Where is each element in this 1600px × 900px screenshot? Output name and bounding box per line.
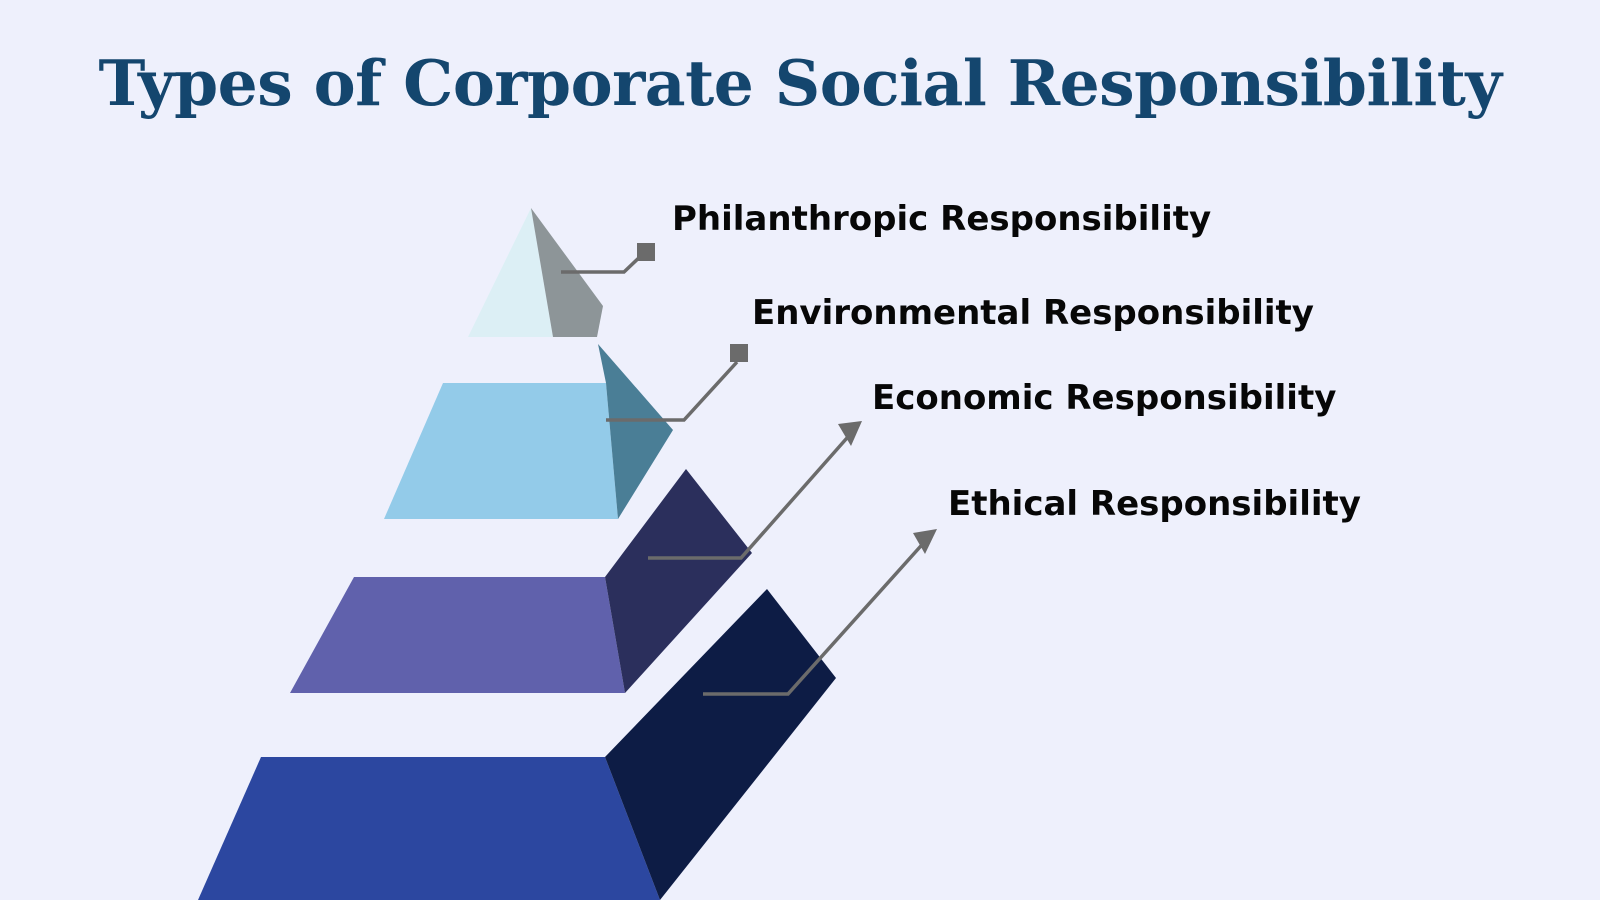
tier-label-philanthropic: Philanthropic Responsibility	[672, 202, 1211, 236]
tier-label-ethical: Ethical Responsibility	[948, 487, 1361, 521]
tier-label-environmental: Environmental Responsibility	[752, 296, 1314, 330]
tier-3-front-face	[290, 577, 625, 693]
slide-canvas: Types of Corporate Social Responsibility	[0, 0, 1600, 900]
connector-line-1	[561, 243, 655, 272]
connector-1-square-endpoint	[637, 243, 655, 261]
pyramid-tier-2[interactable]	[384, 344, 673, 519]
tier-label-economic: Economic Responsibility	[872, 381, 1336, 415]
tier-2-front-face	[384, 383, 618, 519]
connector-2-square-endpoint	[730, 344, 748, 362]
tier-4-front-face	[198, 757, 660, 900]
pyramid-diagram	[0, 0, 1600, 900]
